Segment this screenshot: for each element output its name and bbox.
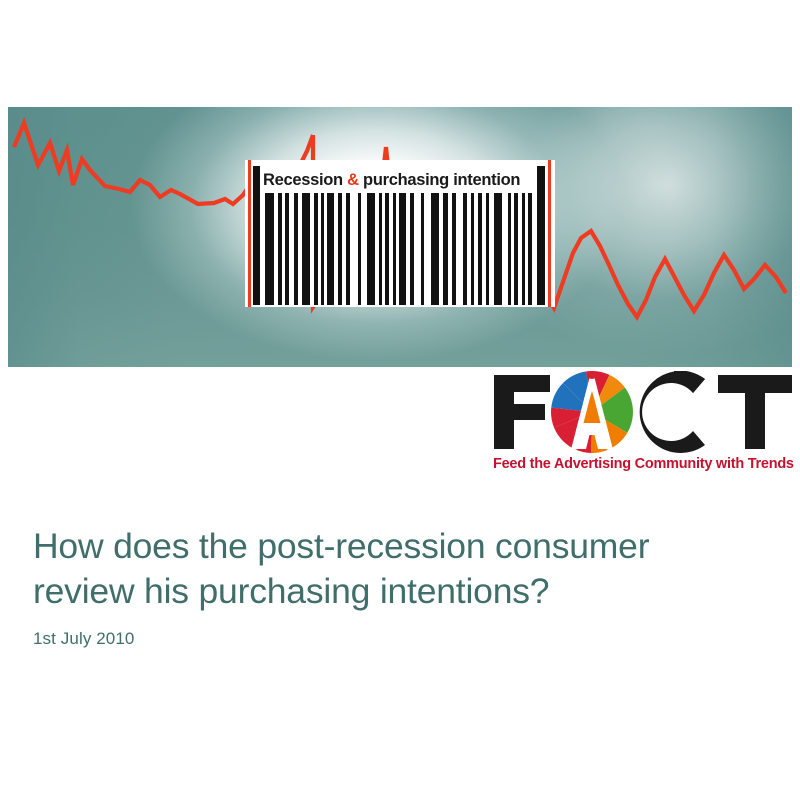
- barcode-bar: [338, 193, 342, 305]
- logo-letter-c: [640, 371, 705, 453]
- barcode-bar: [314, 193, 318, 305]
- barcode-graphic: Recession & purchasing intention: [245, 160, 555, 307]
- barcode-bar: [410, 193, 414, 305]
- barcode-bar: [327, 193, 334, 305]
- barcode-bar: [321, 193, 324, 305]
- barcode-bar: [514, 193, 518, 305]
- barcode-bar: [431, 193, 439, 305]
- barcode-bar: [367, 193, 375, 305]
- fact-logo: Feed the Advertising Community with Tren…: [490, 371, 796, 477]
- barcode-bar: [385, 193, 389, 305]
- barcode-bar: [528, 193, 532, 305]
- barcode-bar: [471, 193, 474, 305]
- barcode-bar: [522, 193, 525, 305]
- barcode-bar: [463, 193, 467, 305]
- logo-letter-f: [494, 375, 550, 449]
- barcode-bar: [346, 193, 350, 305]
- barcode-bar: [494, 193, 502, 305]
- barcode-bar: [486, 193, 489, 305]
- barcode-caption: Recession & purchasing intention: [263, 169, 541, 191]
- fact-tagline: Feed the Advertising Community with Tren…: [493, 455, 796, 473]
- barcode-bar-strip: [245, 193, 555, 305]
- barcode-bar: [278, 193, 282, 305]
- barcode-bar: [508, 193, 511, 305]
- barcode-bar: [478, 193, 482, 305]
- recession-banner-image: Recession & purchasing intention: [8, 107, 792, 367]
- title-block: How does the post-recession consumer rev…: [33, 524, 763, 614]
- barcode-bar: [379, 193, 382, 305]
- barcode-bar: [443, 193, 448, 305]
- barcode-bar: [294, 193, 298, 305]
- fact-wordmark-graphic: [490, 371, 796, 453]
- barcode-bar: [302, 193, 310, 305]
- logo-letter-a-disc: [548, 371, 634, 453]
- barcode-caption-ampersand: &: [347, 171, 359, 189]
- barcode-bar: [265, 193, 274, 305]
- barcode-bar: [399, 193, 406, 305]
- barcode-bar: [285, 193, 289, 305]
- barcode-bar: [358, 193, 361, 305]
- barcode-bar: [452, 193, 456, 305]
- barcode-bar: [393, 193, 396, 305]
- barcode-bar: [421, 193, 424, 305]
- barcode-caption-prefix: Recession: [263, 171, 347, 189]
- page-title: How does the post-recession consumer rev…: [33, 524, 763, 614]
- barcode-caption-suffix: purchasing intention: [359, 171, 520, 189]
- presentation-date: 1st July 2010: [33, 628, 134, 650]
- logo-letter-t: [718, 375, 792, 449]
